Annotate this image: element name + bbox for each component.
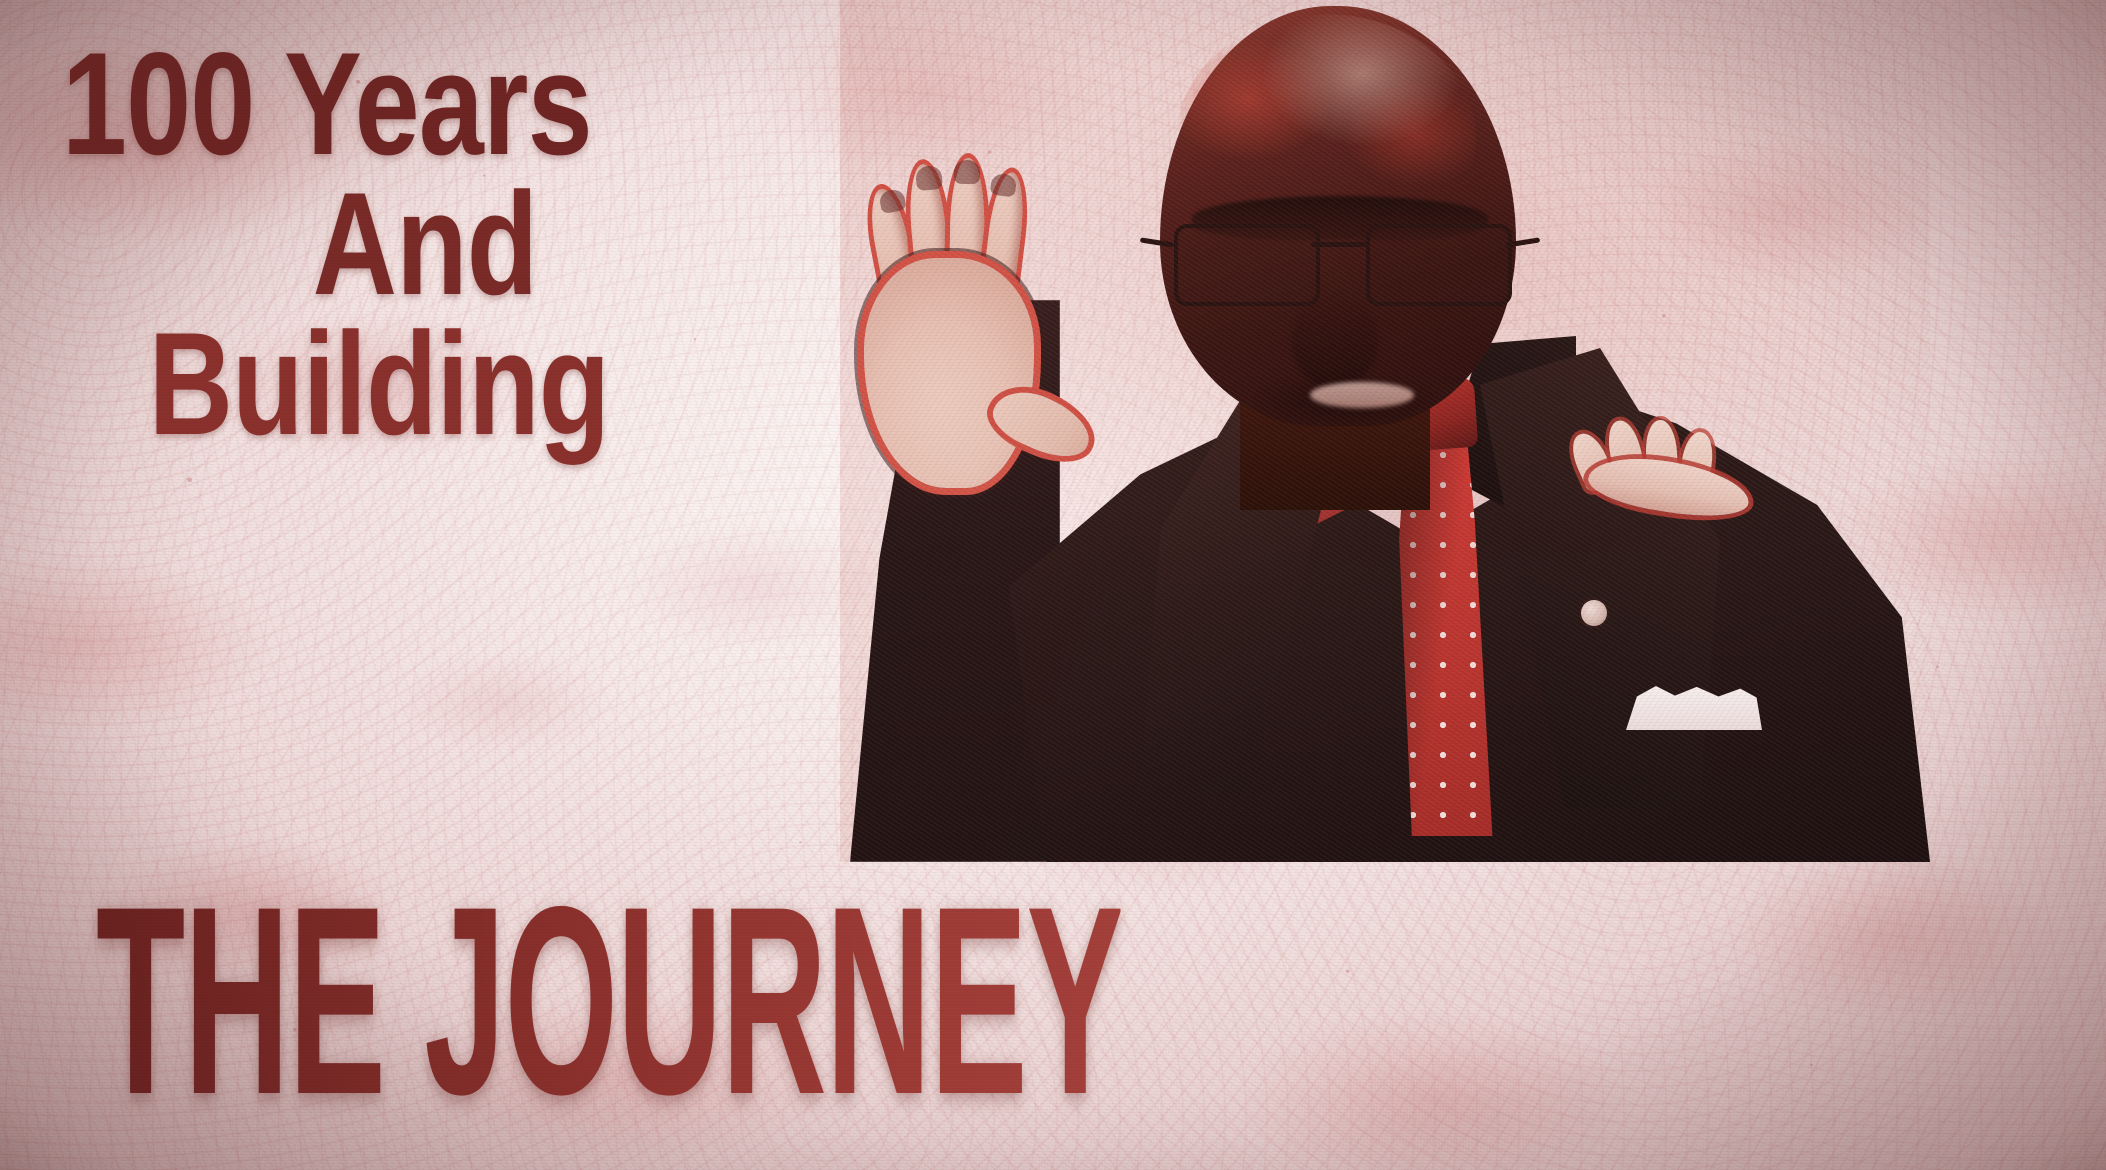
headline-bottom: THE JOURNEY CONTINUES xyxy=(96,866,1121,1134)
headline-line-1: 100 Years xyxy=(62,34,670,174)
headline-line-2: And xyxy=(107,174,742,314)
figure-grain xyxy=(840,0,1930,862)
poster-canvas: 100 Years And Building THE JOURNEY CONTI… xyxy=(0,0,2106,1170)
figure-artwork xyxy=(840,0,1930,862)
headline-top: 100 Years And Building xyxy=(62,34,822,454)
headline-line-3: Building xyxy=(25,314,734,454)
oath-figure-photo xyxy=(840,0,1930,862)
